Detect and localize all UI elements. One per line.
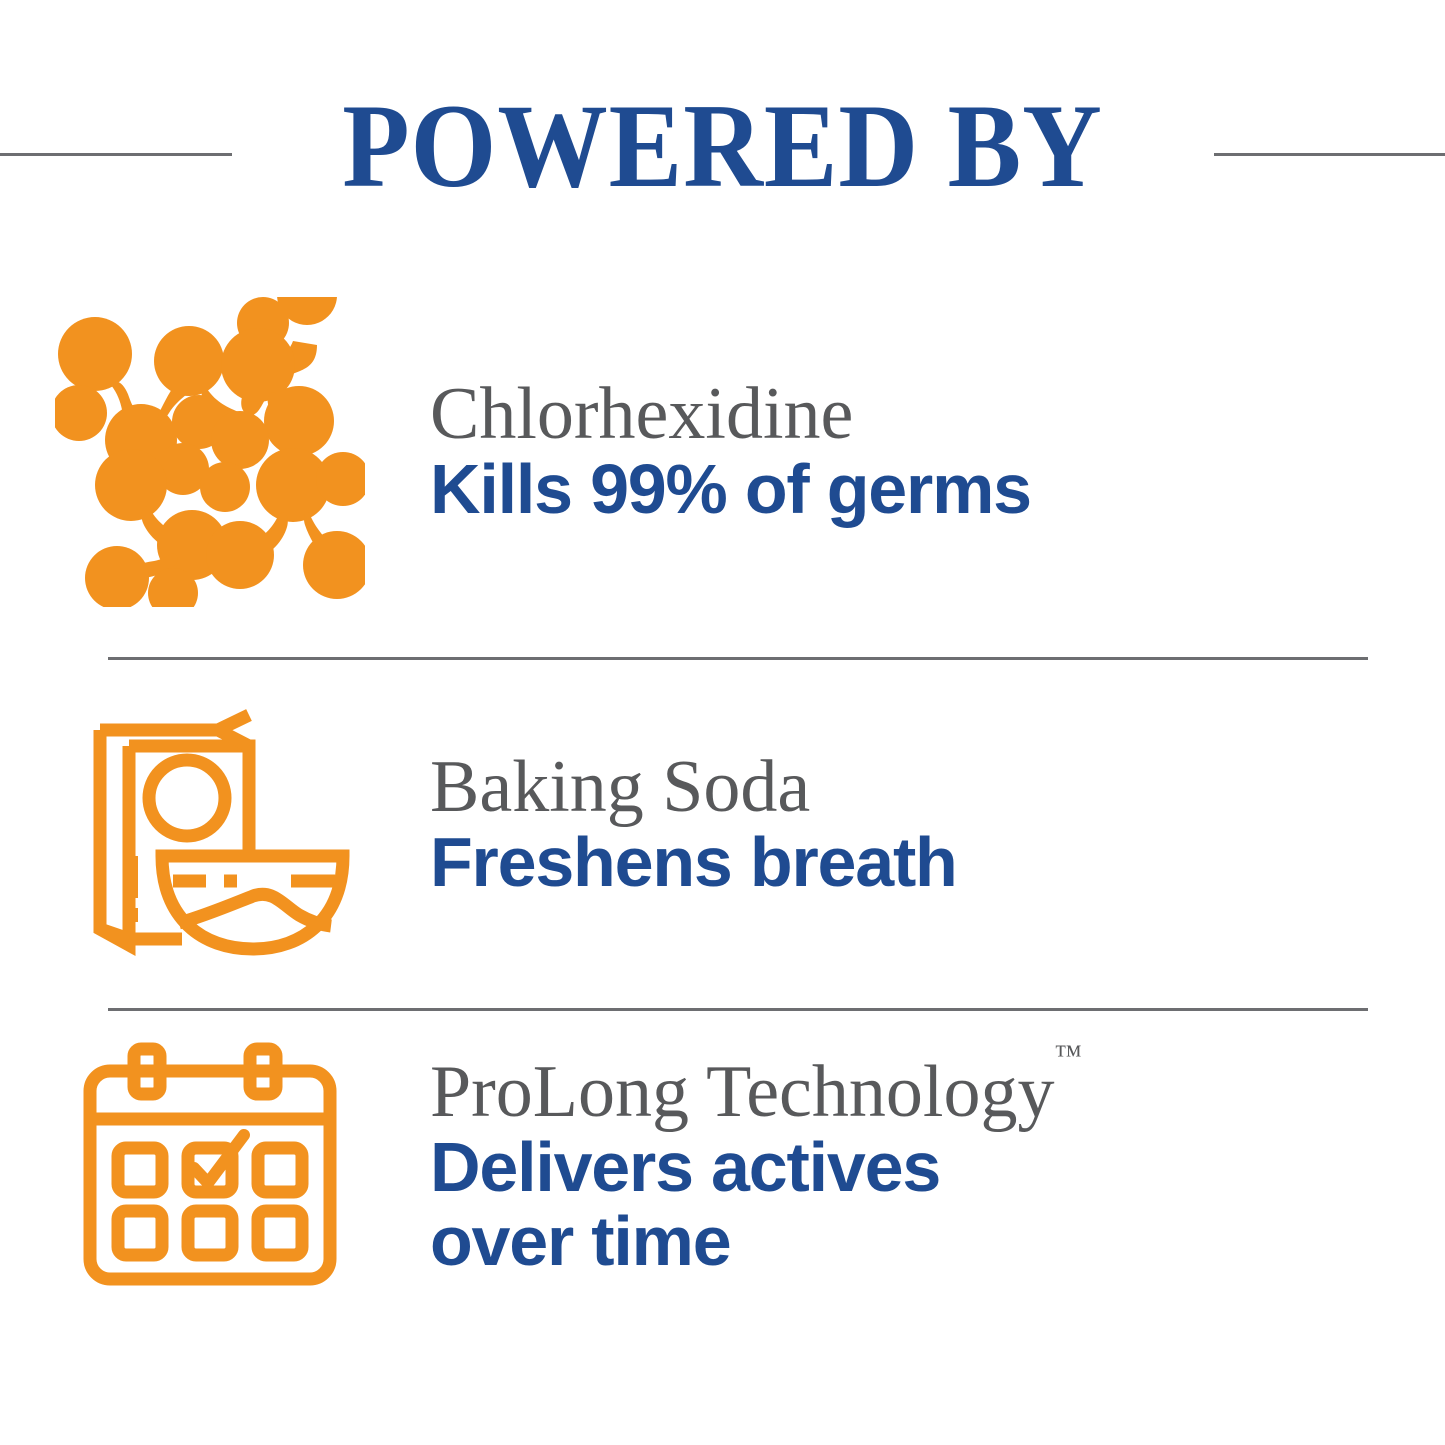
icon-cell-1 bbox=[0, 282, 420, 622]
calendar-check-icon bbox=[76, 1041, 344, 1293]
feature-subtitle-2: Freshens breath bbox=[430, 825, 1445, 899]
header: POWERED BY bbox=[0, 0, 1445, 260]
feature-row-chlorhexidine: Chlorhexidine Kills 99% of germs bbox=[0, 282, 1445, 622]
feature-row-prolong: ProLong Technology™ Delivers actives ove… bbox=[0, 1022, 1445, 1312]
feature-row-baking-soda: Baking Soda Freshens breath bbox=[0, 675, 1445, 975]
feature-title-2: Baking Soda bbox=[430, 751, 810, 824]
text-cell-2: Baking Soda Freshens breath bbox=[420, 751, 1445, 900]
section-divider-2 bbox=[108, 1008, 1368, 1011]
icon-cell-3 bbox=[0, 1022, 420, 1312]
text-cell-1: Chlorhexidine Kills 99% of germs bbox=[420, 378, 1445, 527]
feature-title-3-text: ProLong Technology bbox=[430, 1051, 1054, 1133]
feature-title-3: ProLong Technology™ bbox=[430, 1056, 1082, 1129]
page-title: POWERED BY bbox=[58, 86, 1387, 206]
feature-subtitle-3: Delivers actives over time bbox=[430, 1130, 1070, 1278]
molecule-germs-icon bbox=[55, 297, 365, 607]
icon-cell-2 bbox=[0, 675, 420, 975]
text-cell-3: ProLong Technology™ Delivers actives ove… bbox=[420, 1056, 1445, 1279]
section-divider-1 bbox=[108, 657, 1368, 660]
trademark-symbol: ™ bbox=[1054, 1040, 1082, 1071]
baking-soda-box-bowl-icon bbox=[67, 693, 353, 957]
feature-subtitle-1: Kills 99% of germs bbox=[430, 452, 1445, 526]
feature-title-1: Chlorhexidine bbox=[430, 378, 853, 451]
powered-by-infographic: POWERED BY bbox=[0, 0, 1445, 1445]
